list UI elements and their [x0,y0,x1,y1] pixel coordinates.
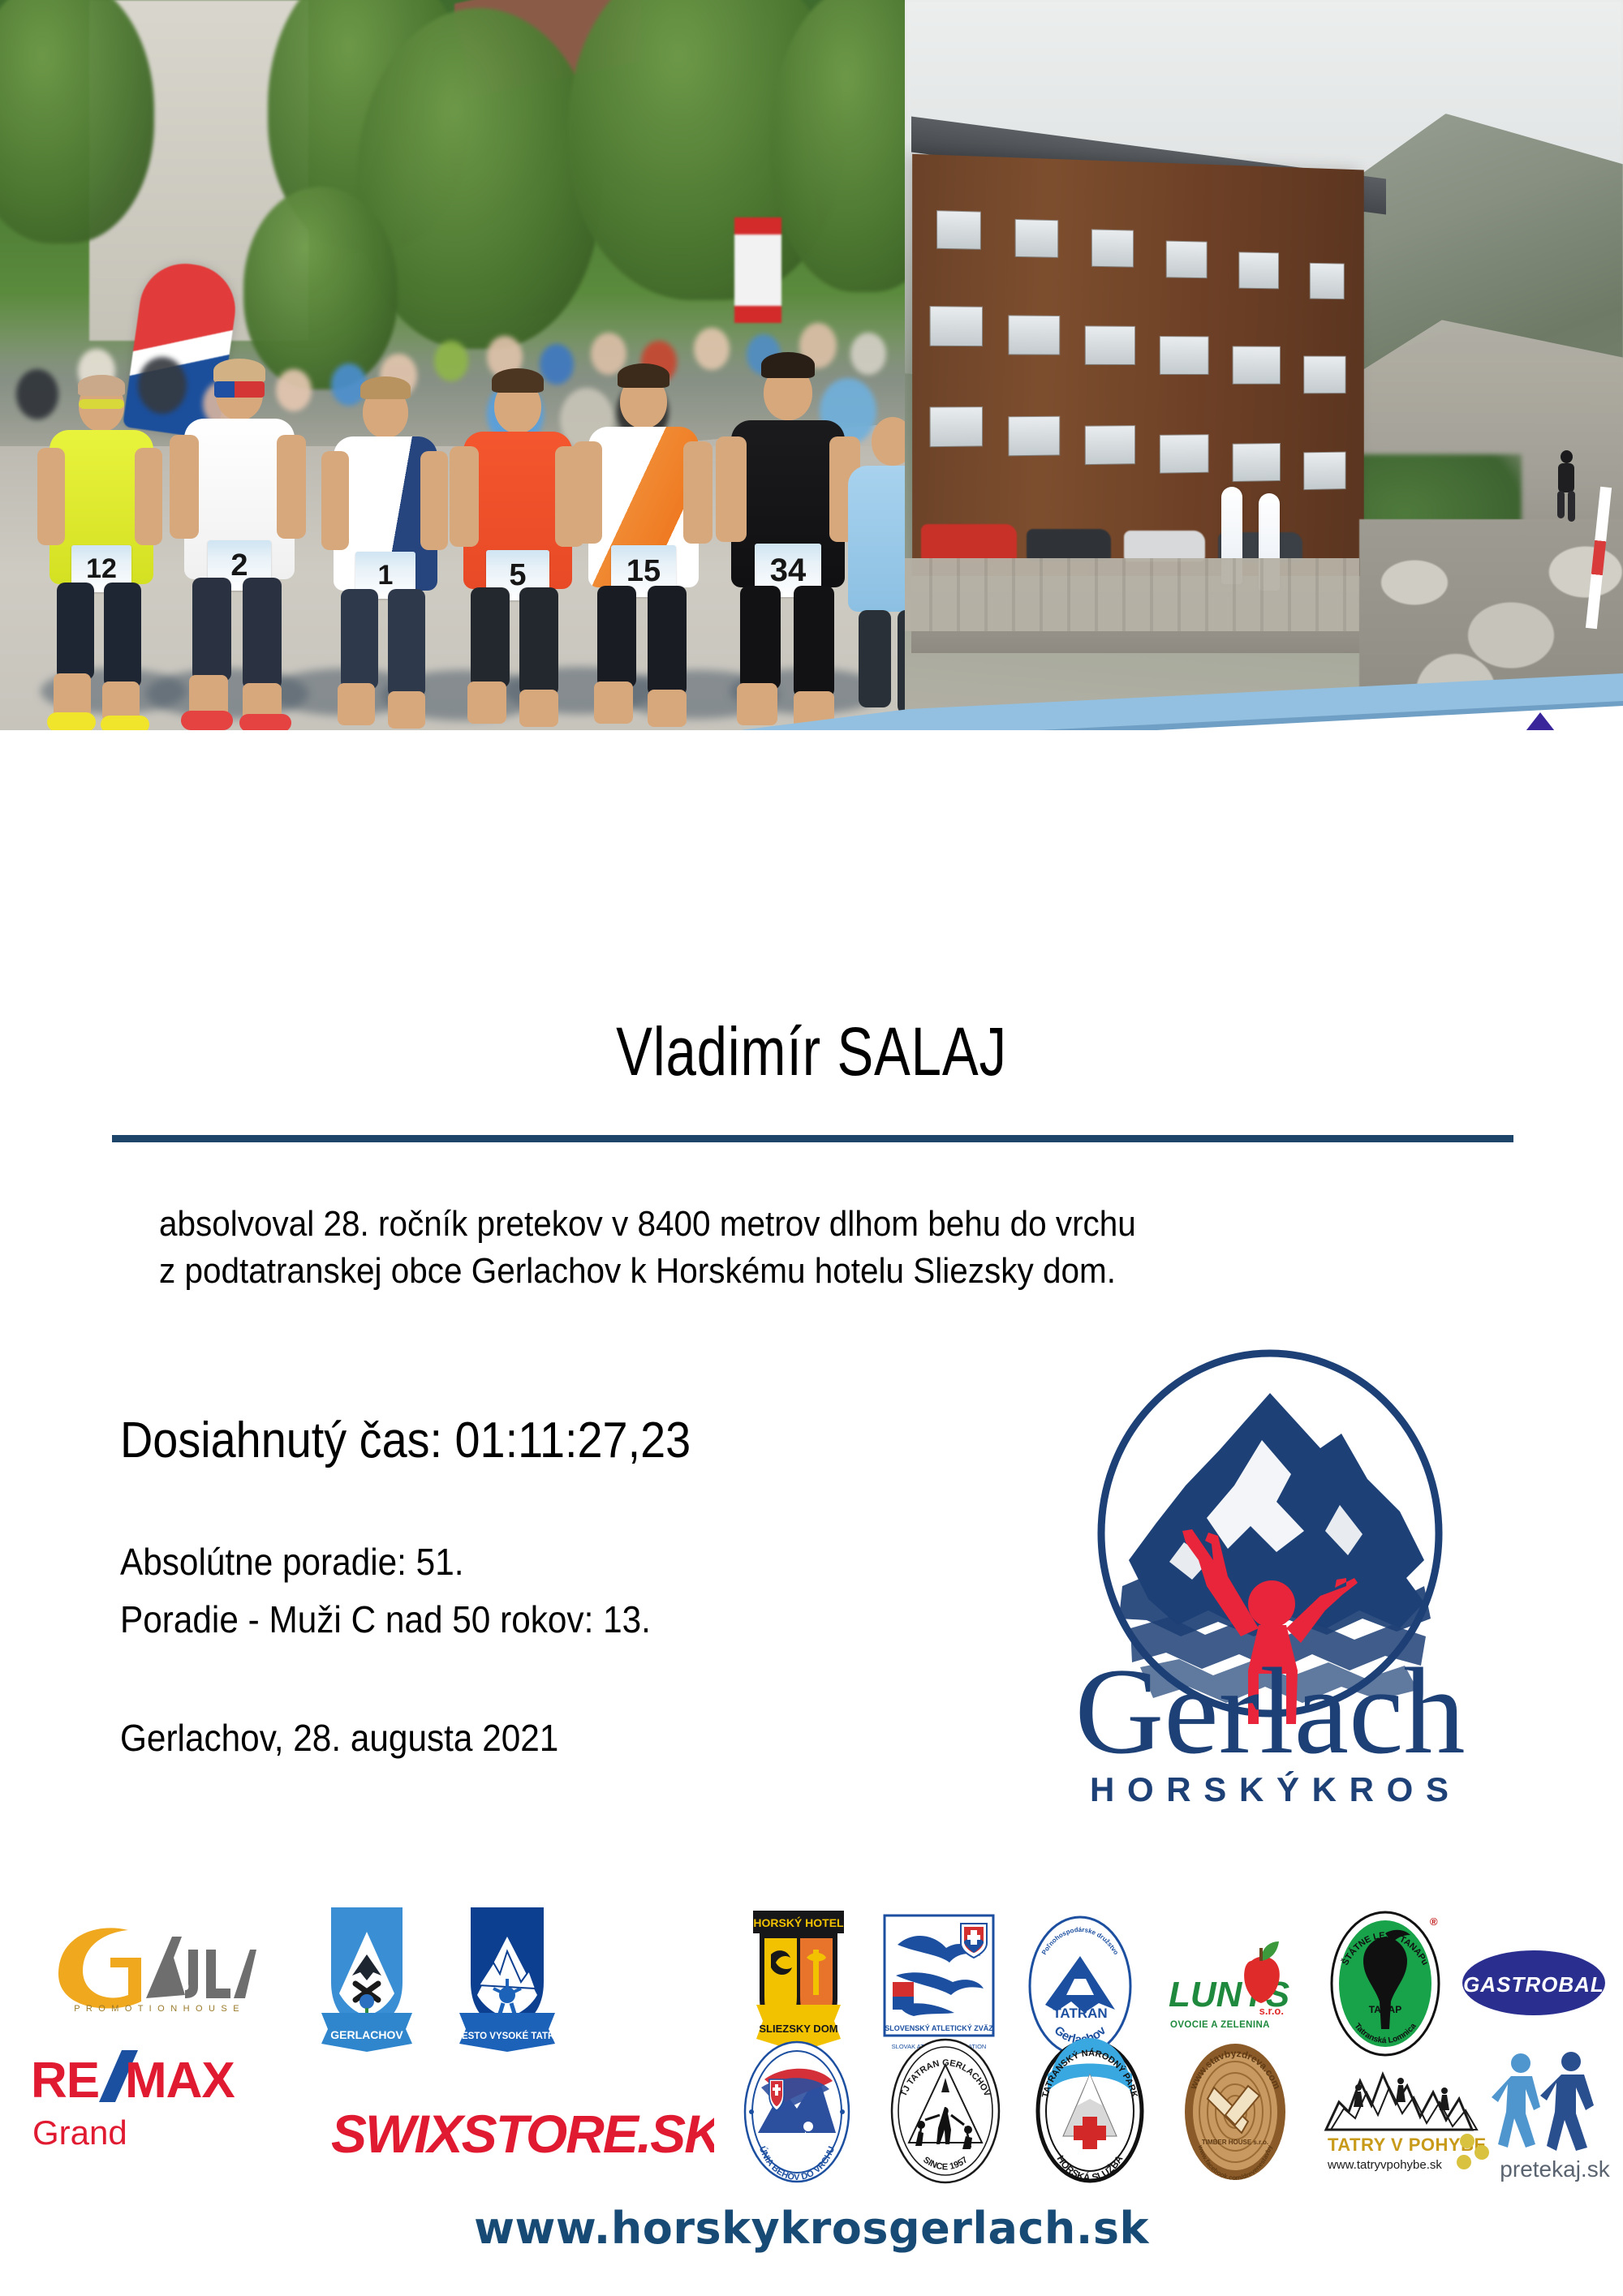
logo-tagline: H O R S K Ý K R O S [1090,1770,1450,1808]
header-photo-banner: 12 2 [0,0,1623,730]
peak-marker-icon [1518,712,1563,730]
sponsor-stavby-z-dreva[interactable]: www.stavbyzdreva.com TIMBER HOUSE s.r.o.… [1178,2037,1292,2186]
sponsor-remax-grand[interactable]: RE MAX Grand [21,2047,256,2169]
sponsor-horsky-hotel-sliezsky-dom[interactable]: HORSKÝ HOTEL SLIEZSKY DOM [748,1907,849,2058]
svg-text:®: ® [1430,1915,1438,1928]
sponsor-tj-tatran-gerlachov[interactable]: TJ TATRAN GERLACHOV SINCE 1957 [886,2036,1005,2186]
sponsor-label: SLIEZSKY DOM [759,2023,837,2035]
sponsor-lunys[interactable]: LUNYS s.r.o. OVOCIE A ZELENINA [1160,1925,1290,2047]
certificate-page: 12 2 [0,0,1623,2296]
elevation-point-sliezsky-dom: Sliezsky dom (1670 m.n.m. ) [1347,712,1615,730]
sponsor-label-extra: TANAP [1369,2004,1401,2015]
sponsor-label: P R O M O T I O N H O U S E [74,2004,240,2014]
gerlach-horsky-kros-logo: Gerlach H O R S K Ý K R O S [1018,1343,1522,1821]
sponsor-logo-strip: P R O M O T I O N H O U S E GERLACHOV [0,1886,1623,2203]
sponsor-label: MESTO VYSOKÉ TATRY [454,2031,561,2041]
overall-rank: Absolútne poradie: 51. [120,1533,651,1591]
sponsor-label-sub: www.tatryvpohybe.sk [1327,2158,1442,2172]
sponsor-label: SWIXSTORE.SK [331,2104,714,2164]
sponsor-label-extra: s.r.o. [1259,2005,1284,2017]
sponsor-label: GERLACHOV [330,2028,403,2041]
sponsor-label: HORSKÝ HOTEL [753,1915,844,1929]
sponsor-swixstore-sk[interactable]: SWIXSTORE.SK [325,2099,714,2172]
photo-sliezsky-dom [905,0,1623,730]
body-line-1: absolvoval 28. ročník pretekov v 8400 me… [159,1201,1368,1248]
photo-race-start: 12 2 [0,0,905,730]
athlete-name: Vladimír SALAJ [162,1013,1461,1091]
sponsor-label-sub: Grand [32,2113,127,2152]
sponsor-unia-behov-do-vrchu[interactable]: ÚNIA BEHOV DO VRCHU [740,2039,854,2185]
svg-text:RE: RE [31,2053,99,2109]
finish-time: Dosiahnutý čas: 01:11:27,23 [120,1412,691,1469]
sponsor-label: GASTROBAL [1463,1972,1604,1997]
certificate-body: absolvoval 28. ročník pretekov v 8400 me… [159,1201,1368,1295]
sponsor-obec-gerlachov[interactable]: GERLACHOV [310,1904,424,2058]
sponsor-label: pretekaj.sk [1500,2156,1610,2182]
logo-wordmark: Gerlach [1074,1643,1465,1779]
sponsor-gajla-promotion-house[interactable]: P R O M O T I O N H O U S E [50,1917,261,2014]
category-rank: Poradie - Muži C nad 50 rokov: 13. [120,1591,651,1649]
sponsor-statne-lesy-tanapu[interactable]: TANAP ŠTÁTNE LESY TANAPu Tatranská Lomni… [1326,1909,1444,2058]
sponsor-mesto-vysoke-tatry[interactable]: MESTO VYSOKÉ TATRY [446,1904,568,2058]
sponsor-label: SLOVENSKÝ ATLETICKÝ ZVÄZ [885,2023,993,2032]
website-url[interactable]: www.horskykrosgerlach.sk [0,2203,1623,2254]
svg-text:MAX: MAX [125,2053,235,2109]
stone-retaining-wall [905,558,1359,631]
sponsor-gastrobal[interactable]: GASTROBAL [1461,1945,1607,2021]
sponsor-label-sub: OVOCIE A ZELENINA [1170,2020,1270,2030]
sponsor-label: TATRAN [1053,2006,1107,2021]
sponsor-tatry-v-pohybe[interactable]: TATRY V POHYBE www.tatryvpohybe.sk [1323,2045,1493,2183]
sponsor-label-sub: TIMBER HOUSE s.r.o. [1202,2139,1268,2146]
title-divider [112,1135,1513,1142]
body-line-2: z podtatranskej obce Gerlachov k Horském… [159,1248,1368,1295]
ranking-block: Absolútne poradie: 51. Poradie - Muži C … [120,1533,651,1649]
course-sign [734,217,781,323]
place-and-date: Gerlachov, 28. augusta 2021 [120,1716,558,1760]
sponsor-horska-sluzba[interactable]: TATRANSKÝ NÁRODNÝ PARK HORSKÁ SLUŽBA [1032,2036,1147,2186]
sponsor-pretekaj-sk[interactable]: pretekaj.sk [1490,2049,1620,2186]
runner-figure [1554,450,1578,523]
